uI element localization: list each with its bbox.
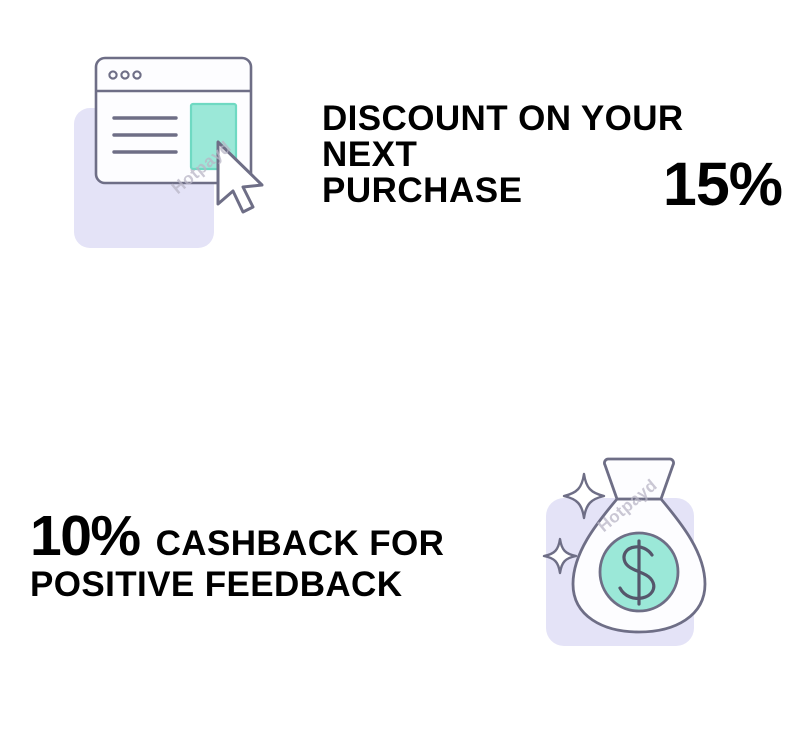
discount-headline: DISCOUNT ON YOUR NEXT PURCHASE 15% xyxy=(322,101,782,208)
discount-line-1: DISCOUNT ON YOUR xyxy=(322,101,782,137)
promo-canvas: Hotpayd DISCOUNT ON YOUR NEXT PURCHASE 1… xyxy=(0,0,800,729)
cashback-line-1: CASHBACK FOR xyxy=(156,526,445,562)
cashback-first-row: 10% CASHBACK FOR xyxy=(30,508,530,565)
discount-percent-value: 15% xyxy=(663,154,782,215)
money-bag-neck xyxy=(604,459,673,499)
cashback-headline: 10% CASHBACK FOR POSITIVE FEEDBACK xyxy=(30,508,530,603)
browser-window-cursor-icon: Hotpayd xyxy=(70,50,300,260)
money-bag-icon: Hotpayd xyxy=(540,450,760,660)
promo-cashback-block: 10% CASHBACK FOR POSITIVE FEEDBACK xyxy=(0,440,800,670)
cashback-line-2: POSITIVE FEEDBACK xyxy=(30,567,530,603)
cashback-percent-value: 10% xyxy=(30,508,140,565)
promo-discount-block: Hotpayd DISCOUNT ON YOUR NEXT PURCHASE 1… xyxy=(0,40,800,270)
